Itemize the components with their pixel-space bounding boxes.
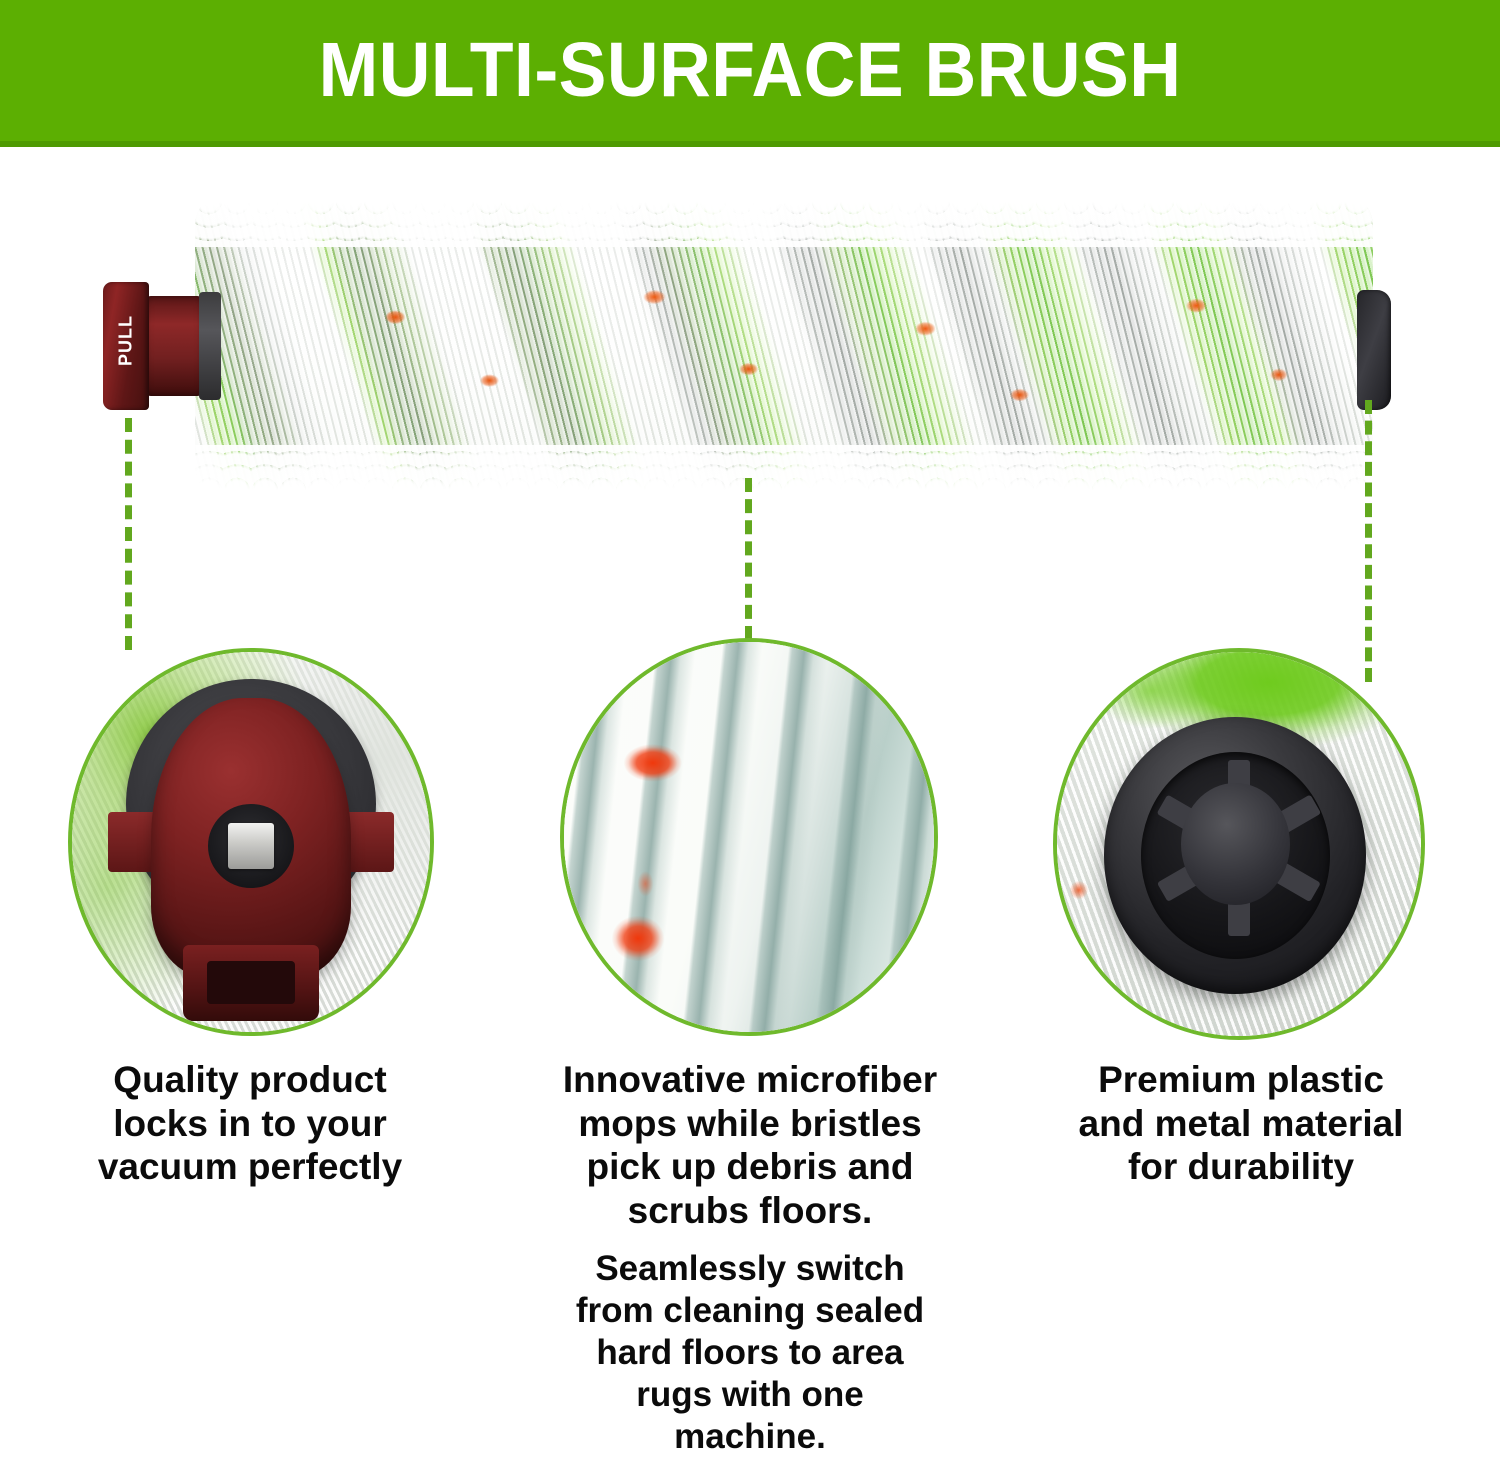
brush-bristle-body [195, 202, 1373, 490]
pull-cap-flange: PULL [103, 282, 149, 410]
caption-line: Innovative microfiber [552, 1058, 948, 1102]
header-banner: MULTI-SURFACE BRUSH [0, 0, 1500, 147]
caption-callout-3: Premium plastic and metal material for d… [1048, 1058, 1434, 1189]
callout-circle-black-hub [1053, 648, 1425, 1040]
caption-line: for durability [1048, 1145, 1434, 1189]
secondary-caption-callout-2: Seamlessly switch from cleaning sealed h… [552, 1248, 948, 1458]
infographic-page: MULTI-SURFACE BRUSH PULL [0, 0, 1500, 1458]
pull-end-cap: PULL [103, 282, 221, 410]
connector-line-2 [745, 478, 752, 640]
caption-line: hard floors to area [552, 1332, 948, 1374]
black-plastic-hub-photo [1057, 652, 1421, 1036]
page-title: MULTI-SURFACE BRUSH [53, 0, 1448, 141]
caption-line: scrubs floors. [552, 1189, 948, 1233]
pull-cap-collar [199, 292, 221, 400]
callout-circle-red-hub [68, 648, 434, 1036]
caption-callout-2: Innovative microfiber mops while bristle… [552, 1058, 948, 1233]
caption-line: pick up debris and [552, 1145, 948, 1189]
connector-line-3 [1365, 400, 1372, 682]
hub-latch-tab [183, 945, 319, 1021]
banner-bottom-strip [0, 141, 1500, 147]
hub-center-boss [1181, 783, 1290, 906]
caption-line: machine. [552, 1416, 948, 1458]
caption-line: Seamlessly switch [552, 1248, 948, 1290]
caption-line: vacuum perfectly [60, 1145, 440, 1189]
red-hub-end-cap-photo [72, 652, 430, 1032]
right-end-cap [1357, 290, 1391, 410]
microfiber-bristle-photo [564, 642, 934, 1032]
caption-line: rugs with one [552, 1374, 948, 1416]
caption-line: Premium plastic [1048, 1058, 1434, 1102]
caption-callout-1: Quality product locks in to your vacuum … [60, 1058, 440, 1189]
caption-line: from cleaning sealed [552, 1290, 948, 1332]
caption-line: locks in to your [60, 1102, 440, 1146]
pull-label-text: PULL [116, 292, 137, 390]
metal-pin [228, 823, 275, 869]
caption-line: mops while bristles [552, 1102, 948, 1146]
callout-circle-microfiber [560, 638, 938, 1036]
brush-roller-image: PULL [95, 190, 1405, 500]
pull-cap-barrel [145, 296, 203, 396]
caption-line: Quality product [60, 1058, 440, 1102]
connector-line-1 [125, 418, 132, 650]
caption-line: and metal material [1048, 1102, 1434, 1146]
